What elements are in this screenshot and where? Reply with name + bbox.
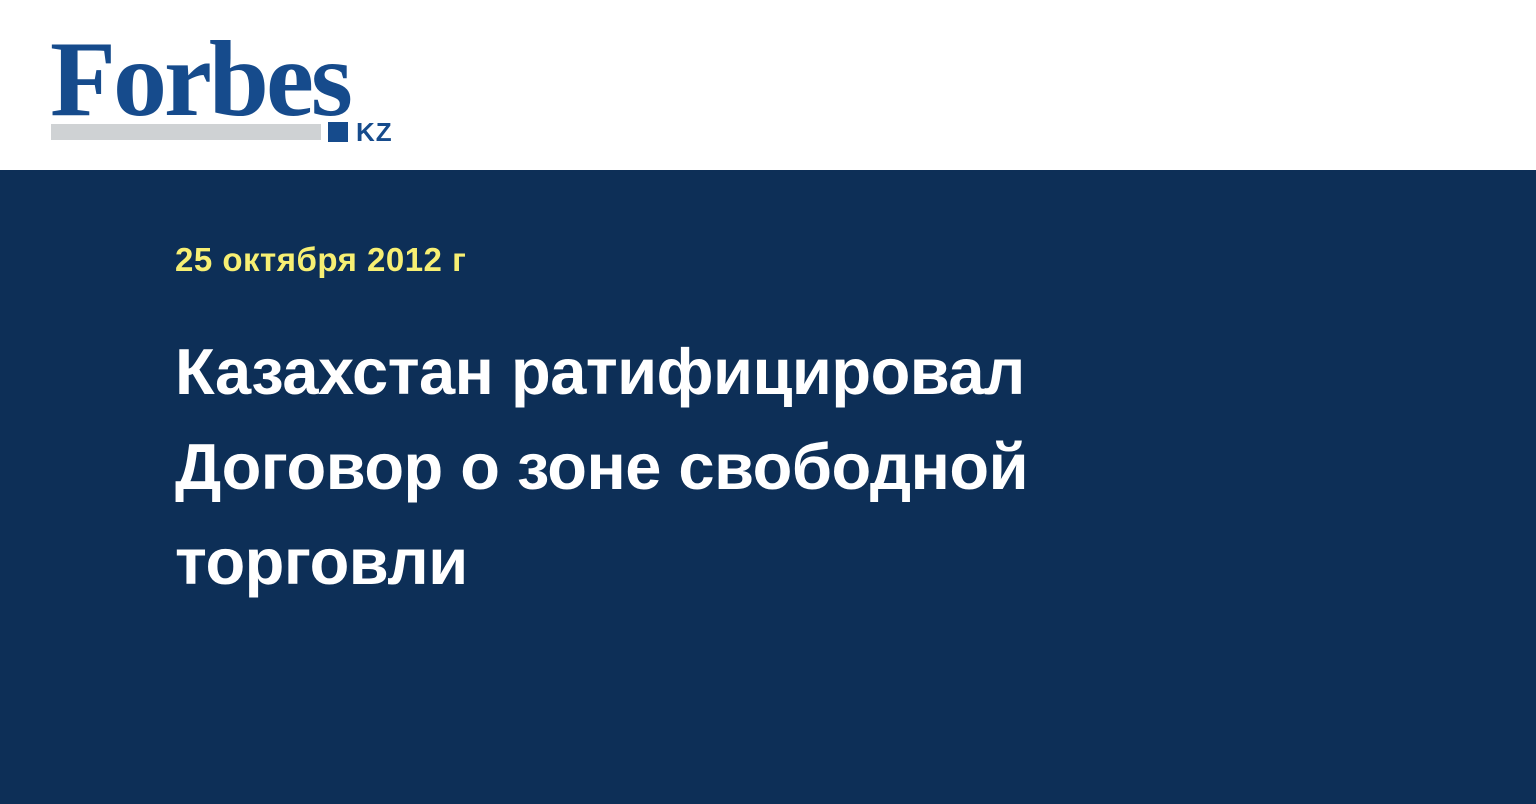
article-hero-content: 25 октября 2012 г Казахстан ратифицирова… <box>175 240 1175 609</box>
article-title: Казахстан ратифицировал Договор о зоне с… <box>175 324 1135 609</box>
article-date: 25 октября 2012 г <box>175 240 1175 280</box>
article-card-page: Forbes KZ 25 октября 2012 г Казахстан ра… <box>0 0 1536 804</box>
site-header: Forbes KZ <box>0 0 1536 170</box>
logo-kz-group: KZ <box>328 122 393 142</box>
article-hero: 25 октября 2012 г Казахстан ратифицирова… <box>0 170 1536 804</box>
logo-underline-bar <box>51 124 321 140</box>
forbes-kz-logo[interactable]: Forbes KZ <box>50 26 410 146</box>
logo-kz-label: KZ <box>356 122 393 142</box>
logo-wordmark: Forbes <box>50 26 350 134</box>
blue-square-icon <box>328 122 348 142</box>
